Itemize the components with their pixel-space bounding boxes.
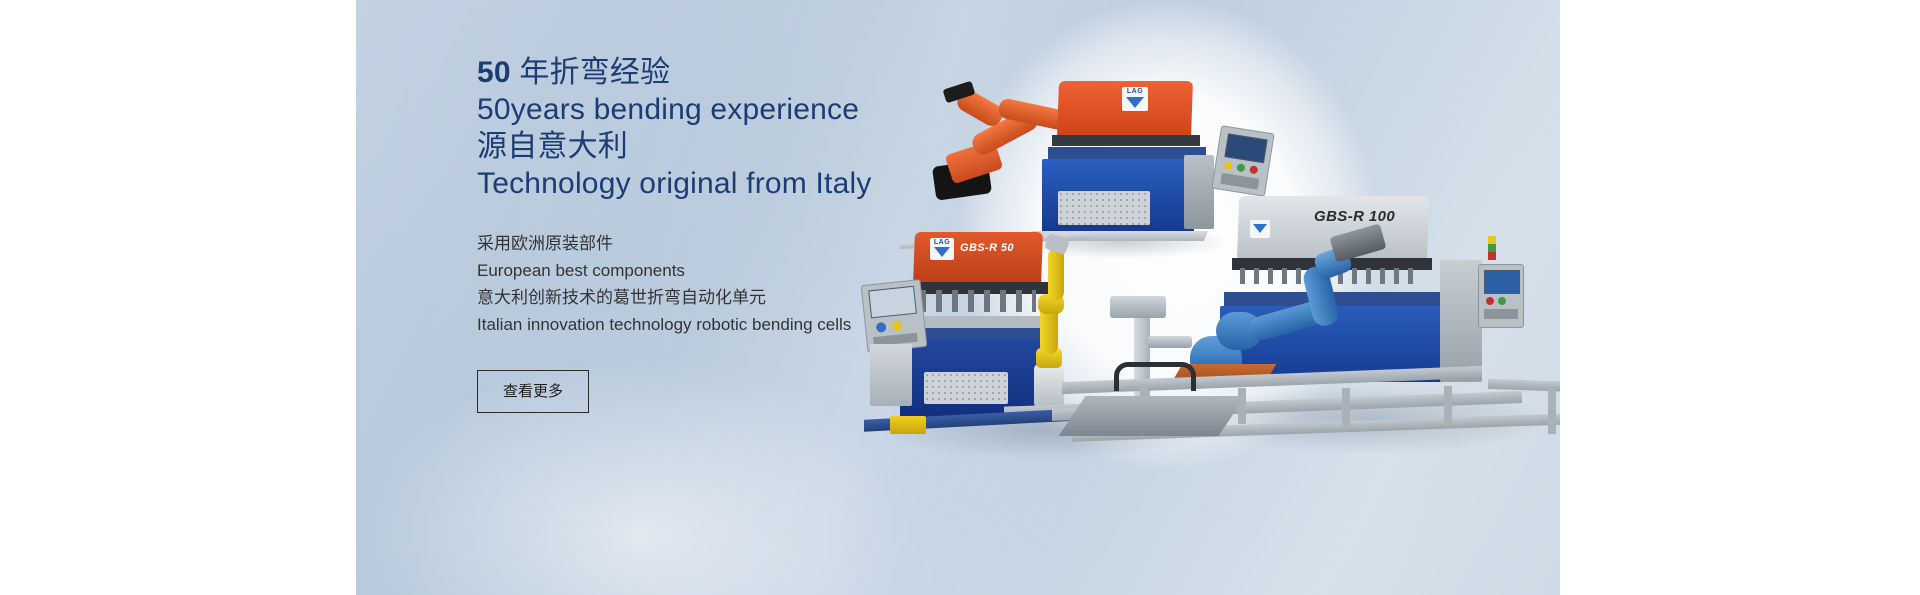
- teach-pendant: [1211, 125, 1274, 197]
- part-manipulator-arm: [1148, 336, 1192, 348]
- gbs100-conveyor-leg-3: [1342, 388, 1350, 426]
- gbs100-outfeed-leg: [1548, 388, 1556, 434]
- pendant-button-red: [1249, 165, 1258, 174]
- hero-banner: LAG: [356, 0, 1560, 595]
- headline-line-1: 50 年折弯经验: [477, 54, 1097, 91]
- part-manipulator-head: [1110, 296, 1166, 318]
- banner-headline: 50 年折弯经验 50years bending experience 源自意大…: [477, 54, 1097, 202]
- lag-chevron-icon: [1126, 97, 1144, 108]
- gbs100-cnc-button-red: [1486, 297, 1494, 305]
- banner-root: LAG: [0, 0, 1920, 595]
- headline-line-1-rest: 年折弯经验: [511, 56, 671, 89]
- gbs100-cnc-button-green: [1498, 297, 1506, 305]
- gbs100-cnc-keypad: [1484, 309, 1518, 319]
- banner-subcopy: 采用欧洲原装部件 European best components 意大利创新技…: [477, 230, 1097, 338]
- lag-logo-top: LAG: [1122, 87, 1148, 111]
- gbs100-signal-tower: [1488, 236, 1496, 260]
- gbs100-model-badge: GBS-R 100: [1314, 208, 1395, 225]
- subcopy-line-3: 意大利创新技术的葛世折弯自动化单元: [477, 284, 1097, 311]
- gbs100-conveyor-leg-4: [1444, 386, 1452, 424]
- pendant-button-yellow: [1224, 161, 1233, 170]
- gbs100-cnc-screen: [1484, 270, 1520, 294]
- banner-copy: 50 年折弯经验 50years bending experience 源自意大…: [477, 54, 1097, 413]
- subcopy-line-1: 采用欧洲原装部件: [477, 230, 1097, 257]
- pendant-button-green: [1236, 163, 1245, 172]
- floor-clamp-fixture-yellow: [890, 416, 926, 434]
- subcopy-line-2: European best components: [477, 257, 1097, 284]
- gbs100-cable-carrier: [1114, 362, 1196, 391]
- gbs100-side-cabinet: [1440, 260, 1482, 382]
- gbs100-cnc-control-panel: [1478, 264, 1524, 328]
- subcopy-line-4: Italian innovation technology robotic be…: [477, 311, 1097, 338]
- machine-gbs-r-100: GBS-R 100: [1192, 196, 1552, 426]
- gbs100-conveyor-leg-2: [1238, 388, 1246, 424]
- headline-line-4: Technology original from Italy: [477, 165, 1097, 202]
- headline-line-2: 50years bending experience: [477, 91, 1097, 128]
- lag-logo-gbs100: [1250, 220, 1270, 238]
- view-more-button[interactable]: 查看更多: [477, 370, 589, 413]
- headline-line-1-strong: 50: [477, 56, 511, 89]
- pendant-screen: [1224, 133, 1267, 163]
- headline-line-3: 源自意大利: [477, 128, 1097, 165]
- pendant-keypad: [1220, 173, 1259, 190]
- lag-logo-text: LAG: [1127, 87, 1143, 96]
- lag-chevron-icon-gbs100: [1253, 224, 1267, 233]
